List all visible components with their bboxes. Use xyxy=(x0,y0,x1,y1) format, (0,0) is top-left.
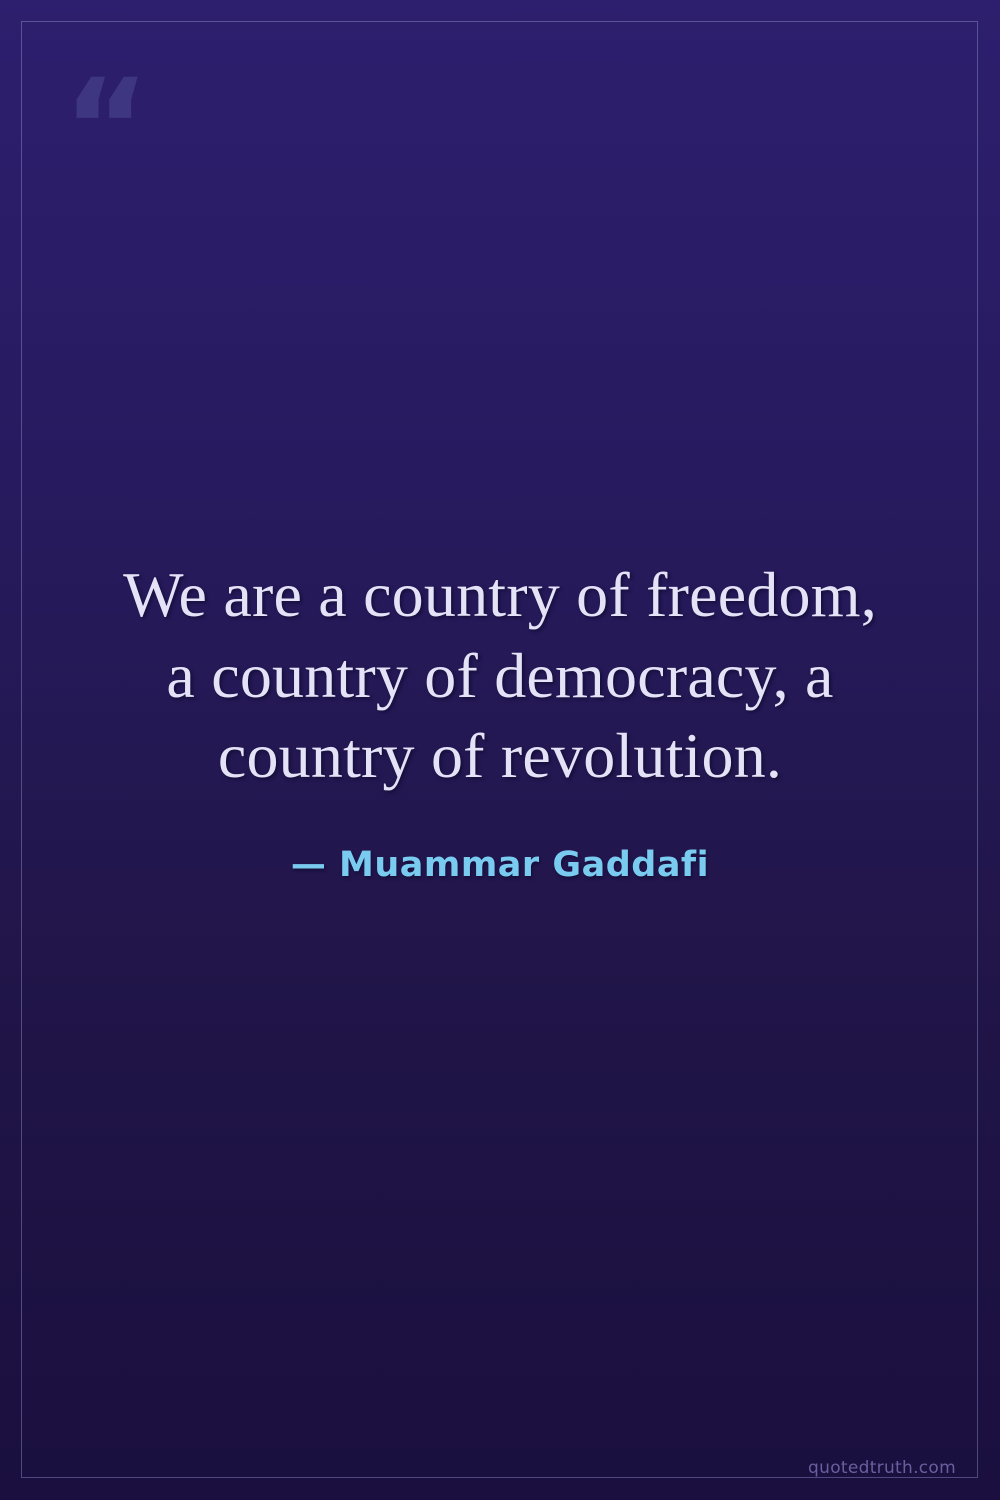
quote-attribution: — Muammar Gaddafi xyxy=(291,845,709,885)
site-watermark: quotedtruth.com xyxy=(808,1458,956,1478)
quote-text: We are a country of freedom, a country o… xyxy=(70,555,930,797)
quote-content-block: We are a country of freedom, a country o… xyxy=(0,0,1000,1500)
quote-poster: “ We are a country of freedom, a country… xyxy=(0,0,1000,1500)
